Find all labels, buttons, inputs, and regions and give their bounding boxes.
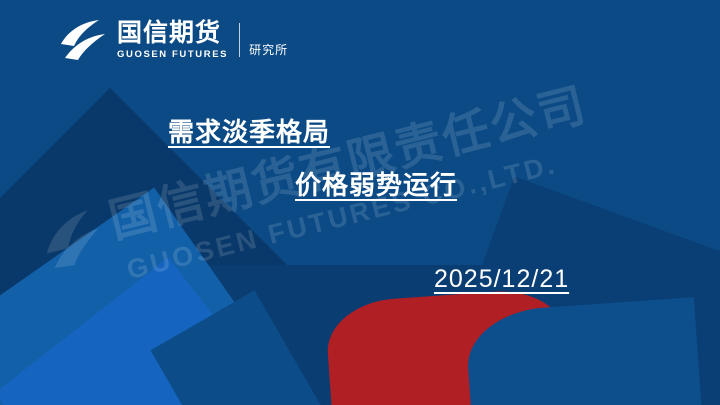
slide-title-line-1: 需求淡季格局: [168, 112, 330, 149]
slide-date: 2025/12/21: [434, 265, 569, 294]
guosen-futures-logo-mark-icon: [58, 17, 108, 63]
logo-divider: [239, 23, 240, 57]
brand-logo-text: 国信期货 GUOSEN FUTURES: [117, 20, 228, 60]
presentation-title-slide: 国信期货有限责任公司 GUOSEN FUTURES CO.,LTD. 国信期货 …: [0, 0, 720, 405]
department-label: 研究所: [249, 41, 288, 63]
brand-logo: 国信期货 GUOSEN FUTURES 研究所: [58, 17, 288, 63]
slide-title-line-2: 价格弱势运行: [295, 165, 457, 202]
brand-name-cn: 国信期货: [117, 20, 228, 47]
brand-name-en: GUOSEN FUTURES: [117, 49, 228, 60]
